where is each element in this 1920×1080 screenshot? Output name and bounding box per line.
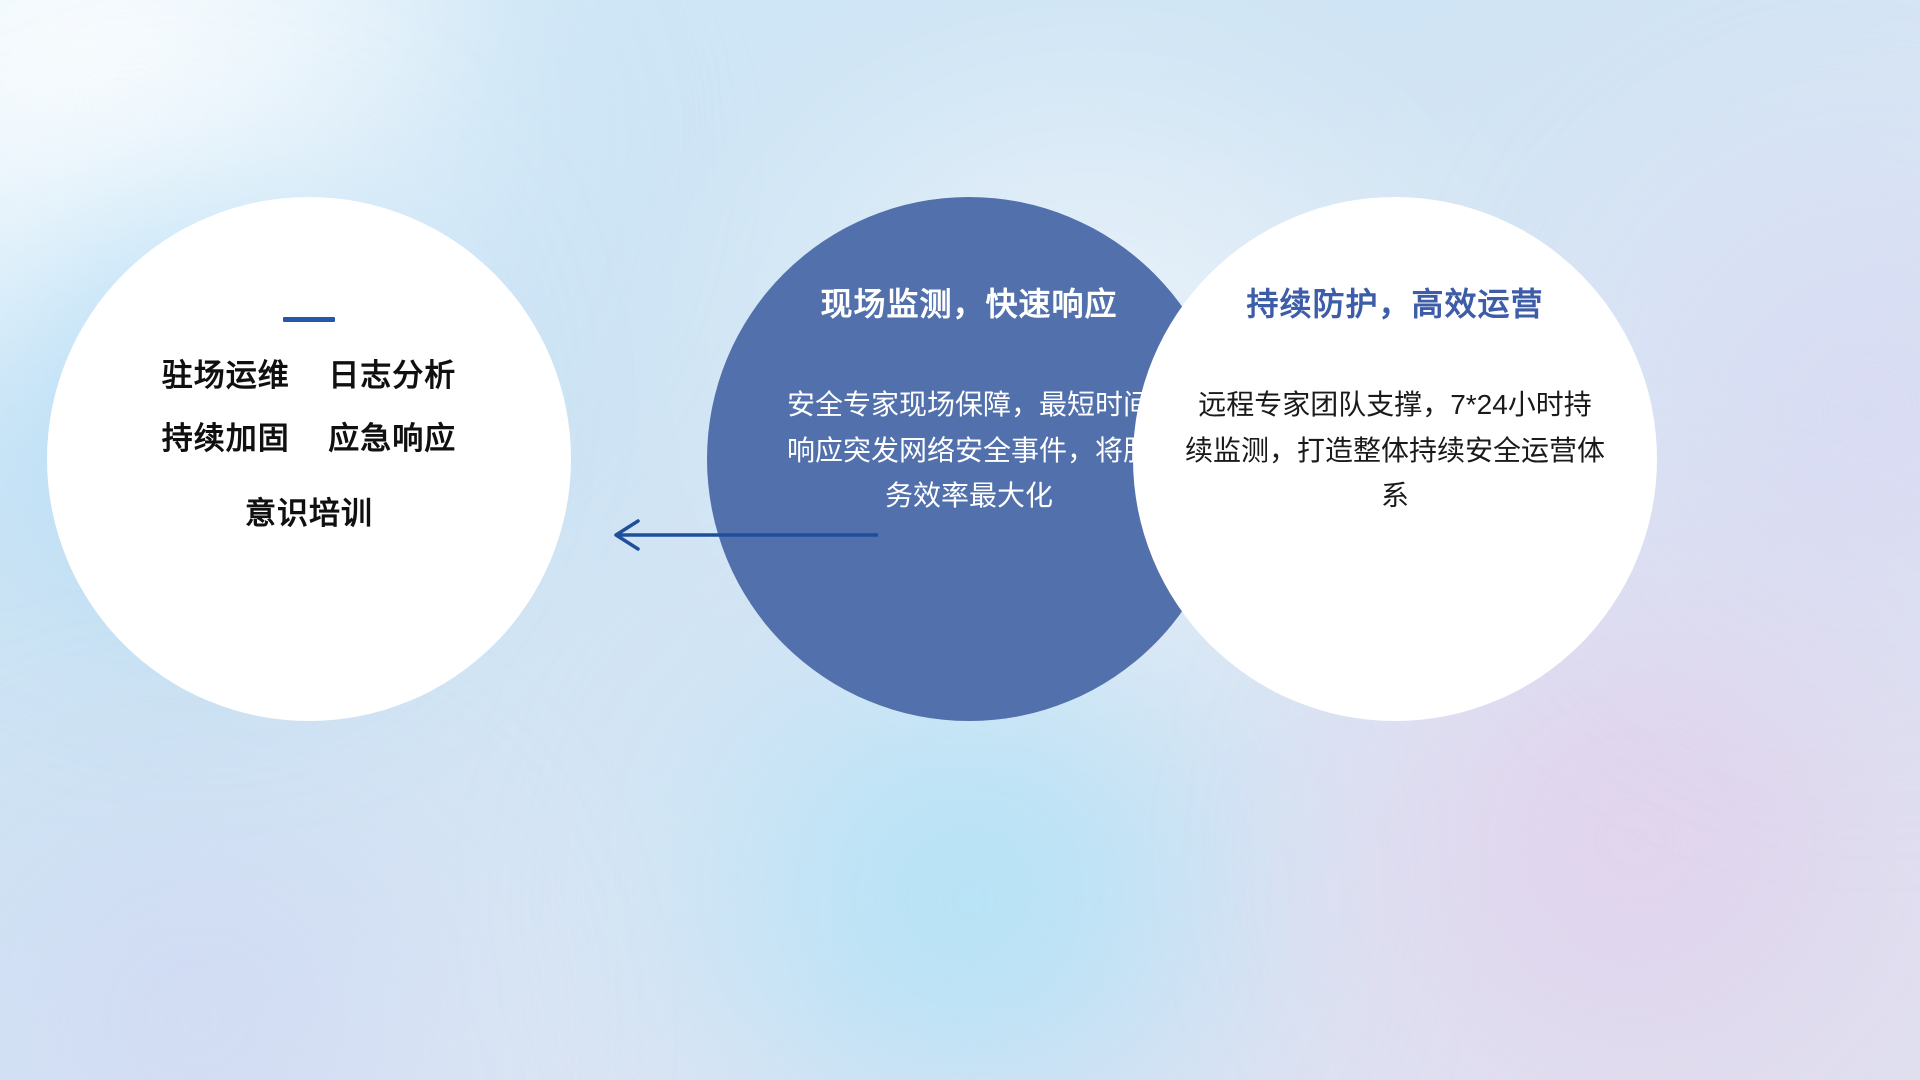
right-circle-title: 持续防护，高效运营 xyxy=(1246,287,1543,322)
slide-canvas: 驻场运维 日志分析 持续加固 应急响应 意识培训 现场监测，快速响应 安全专家现… xyxy=(0,0,1920,1080)
right-circle-body: 远程专家团队支撑，7*24小时持续监测，打造整体持续安全运营体系 xyxy=(1185,382,1605,518)
left-circle-line-2: 持续加固 应急响应 xyxy=(162,423,456,454)
left-arrow-icon xyxy=(600,515,880,555)
left-circle-line-1: 驻场运维 日志分析 xyxy=(162,360,456,391)
right-circle-card[interactable]: 持续防护，高效运营 远程专家团队支撑，7*24小时持续监测，打造整体持续安全运营… xyxy=(1133,197,1657,721)
left-circle-card[interactable]: 驻场运维 日志分析 持续加固 应急响应 意识培训 xyxy=(47,197,571,721)
middle-circle-title: 现场监测，快速响应 xyxy=(820,287,1117,322)
divider-rule-icon xyxy=(283,317,335,322)
middle-circle-body: 安全专家现场保障，最短时间响应突发网络安全事件，将服务效率最大化 xyxy=(774,382,1164,518)
left-circle-line-3: 意识培训 xyxy=(245,498,373,529)
